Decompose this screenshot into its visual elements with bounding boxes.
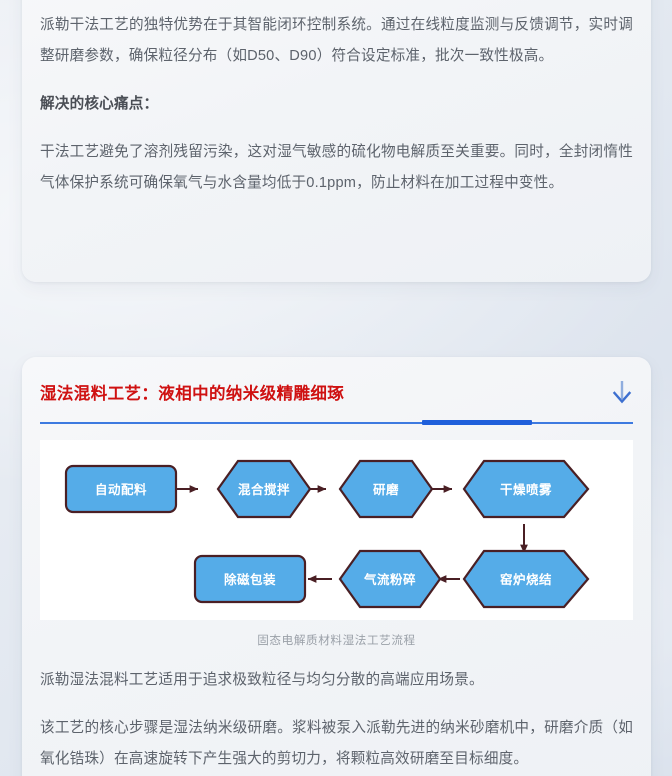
flow-node-label: 除磁包装 [224, 572, 276, 587]
wet-process-header[interactable]: 湿法混料工艺：液相中的纳米级精雕细琢 [22, 357, 651, 405]
paragraph-wet-core-step: 该工艺的核心步骤是湿法纳米级研磨。浆料被泵入派勒先进的纳米砂磨机中，研磨介质（如… [40, 713, 633, 775]
flow-node-jet-milling[interactable]: 气流粉碎 [340, 551, 440, 607]
heading-core-painpoints: 解决的核心痛点： [40, 89, 633, 120]
paragraph-dry-painpoint-body: 干法工艺避免了溶剂残留污染，这对湿气敏感的硫化物电解质至关重要。同时，全封闭惰性… [40, 137, 633, 199]
paragraph-dry-advantage: 派勒干法工艺的独特优势在于其智能闭环控制系统。通过在线粒度监测与反馈调节，实时调… [40, 10, 633, 72]
flow-node-mixing-stirring[interactable]: 混合搅拌 [218, 461, 310, 517]
page-root: 派勒干法工艺的独特优势在于其智能闭环控制系统。通过在线粒度监测与反馈调节，实时调… [0, 0, 672, 776]
flow-node-label: 气流粉碎 [363, 572, 416, 587]
section-divider [40, 420, 633, 426]
flow-node-drying-spray[interactable]: 干燥喷雾 [464, 461, 588, 517]
flow-node-auto-batching[interactable]: 自动配料 [66, 466, 176, 512]
wet-process-card: 湿法混料工艺：液相中的纳米级精雕细琢 [22, 357, 651, 776]
flow-node-grinding[interactable]: 研磨 [340, 461, 432, 517]
dry-process-card-body: 派勒干法工艺的独特优势在于其智能闭环控制系统。通过在线粒度监测与反馈调节，实时调… [22, 0, 651, 199]
flow-node-label: 干燥喷雾 [500, 482, 552, 497]
flow-node-label: 研磨 [373, 482, 399, 497]
wet-process-card-body: 派勒湿法混料工艺适用于追求极致粒径与均匀分散的高端应用场景。 该工艺的核心步骤是… [22, 665, 651, 775]
flow-diagram-svg: 自动配料 混合搅拌 研磨 干燥喷雾 [40, 440, 597, 620]
flow-node-kiln-sintering[interactable]: 窑炉烧结 [464, 551, 588, 607]
flow-node-label: 窑炉烧结 [500, 572, 552, 587]
wet-process-title: 湿法混料工艺：液相中的纳米级精雕细琢 [40, 380, 344, 404]
wet-process-flow-diagram: 自动配料 混合搅拌 研磨 干燥喷雾 [40, 440, 633, 620]
dry-process-card: 派勒干法工艺的独特优势在于其智能闭环控制系统。通过在线粒度监测与反馈调节，实时调… [22, 0, 651, 282]
flow-node-label: 混合搅拌 [238, 482, 290, 497]
figure-caption: 固态电解质材料湿法工艺流程 [22, 632, 651, 648]
arrow-down-icon[interactable] [611, 379, 633, 405]
flow-node-label: 自动配料 [95, 482, 147, 497]
divider-track [40, 422, 633, 424]
flow-node-demagnetize-packaging[interactable]: 除磁包装 [195, 556, 305, 602]
divider-active-segment [422, 420, 532, 425]
paragraph-wet-scenario: 派勒湿法混料工艺适用于追求极致粒径与均匀分散的高端应用场景。 [40, 665, 633, 696]
